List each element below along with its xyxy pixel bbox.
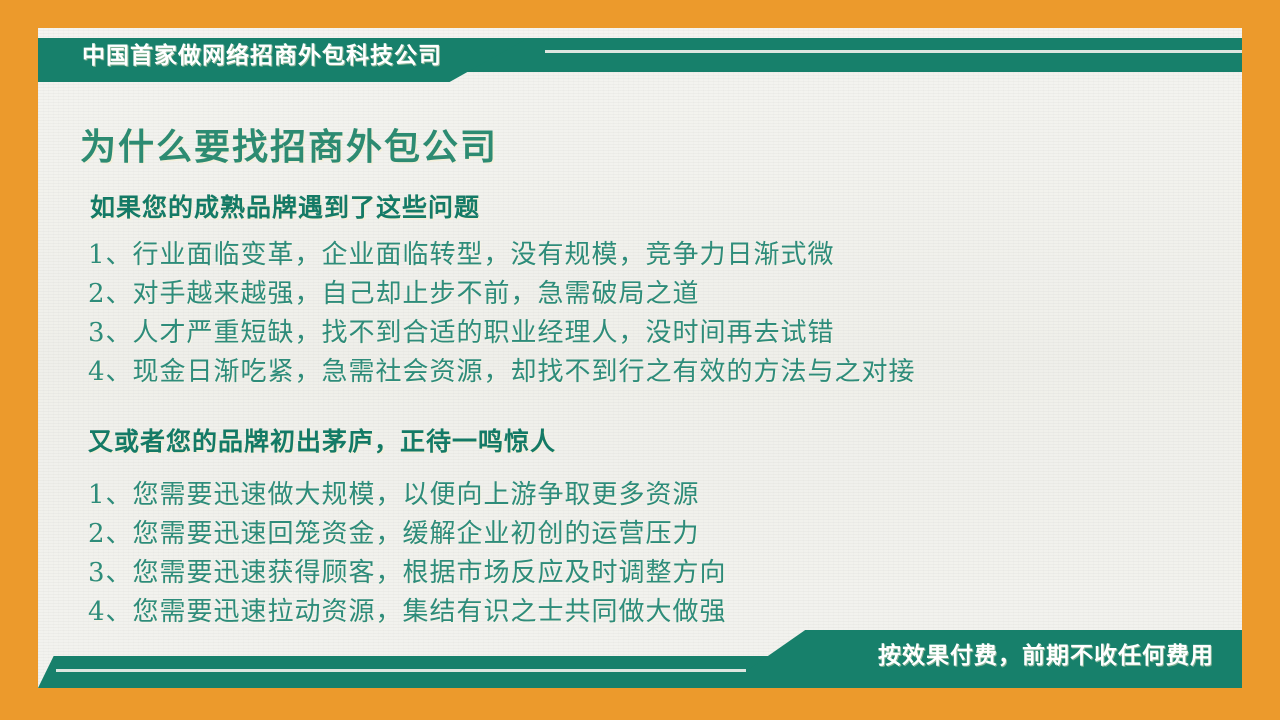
list-item: 2、您需要迅速回笼资金，缓解企业初创的运营压力 (88, 515, 727, 554)
bottom-banner: 按效果付费，前期不收任何费用 (38, 630, 1242, 688)
section-list-mature-brand: 1、行业面临变革，企业面临转型，没有规模，竞争力日渐式微 2、对手越来越强，自己… (88, 236, 916, 392)
list-item: 1、行业面临变革，企业面临转型，没有规模，竞争力日渐式微 (88, 236, 916, 275)
pricing-tagline: 按效果付费，前期不收任何费用 (878, 641, 1214, 669)
company-tagline: 中国首家做网络招商外包科技公司 (82, 41, 442, 69)
list-item: 3、您需要迅速获得顾客，根据市场反应及时调整方向 (88, 554, 727, 593)
section-heading-new-brand: 又或者您的品牌初出茅庐，正待一鸣惊人 (88, 422, 556, 458)
slide-canvas: 中国首家做网络招商外包科技公司 为什么要找招商外包公司 如果您的成熟品牌遇到了这… (0, 0, 1280, 720)
list-item: 4、您需要迅速拉动资源，集结有识之士共同做大做强 (88, 593, 727, 632)
section-heading-mature-brand: 如果您的成熟品牌遇到了这些问题 (90, 188, 480, 224)
section-list-new-brand: 1、您需要迅速做大规模，以便向上游争取更多资源 2、您需要迅速回笼资金，缓解企业… (88, 476, 727, 632)
list-item: 1、您需要迅速做大规模，以便向上游争取更多资源 (88, 476, 727, 515)
list-item: 4、现金日渐吃紧，急需社会资源，却找不到行之有效的方法与之对接 (88, 353, 916, 392)
bottom-banner-divider-line (56, 669, 746, 672)
top-banner-divider-line (545, 50, 1242, 53)
list-item: 3、人才严重短缺，找不到合适的职业经理人，没时间再去试错 (88, 314, 916, 353)
top-banner: 中国首家做网络招商外包科技公司 (38, 28, 1242, 88)
page-title: 为什么要找招商外包公司 (80, 118, 498, 170)
list-item: 2、对手越来越强，自己却止步不前，急需破局之道 (88, 275, 916, 314)
